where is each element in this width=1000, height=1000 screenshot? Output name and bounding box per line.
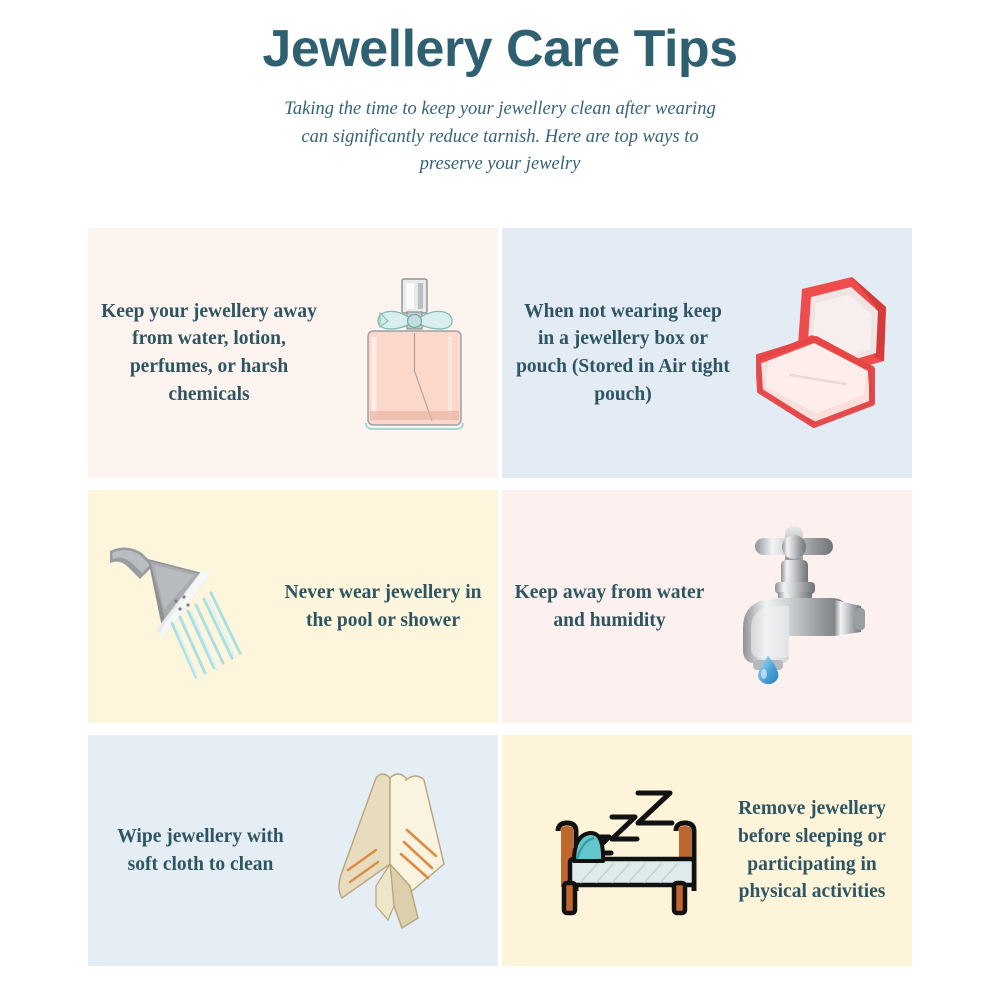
page-title: Jewellery Care Tips	[0, 0, 1000, 80]
ring-box-icon	[744, 228, 912, 478]
tip-card-wipe-cloth[interactable]: Wipe jewellery with soft cloth to clean	[88, 735, 498, 966]
tip-card-storage[interactable]: When not wearing keep in a jewellery box…	[502, 228, 912, 478]
page-subtitle: Taking the time to keep your jewellery c…	[280, 96, 720, 178]
faucet-drip-icon	[717, 490, 885, 723]
shower-head-icon	[100, 490, 268, 723]
tip-card-sleeping[interactable]: Remove jewellery before sleeping or part…	[502, 735, 912, 966]
tip-card-water-humidity[interactable]: Keep away from water and humidity	[502, 490, 912, 723]
tip-text: Keep away from water and humidity	[502, 579, 717, 634]
infographic-page: Jewellery Care Tips Taking the time to k…	[0, 0, 1000, 1000]
tip-card-chemicals[interactable]: Keep your jewellery away from water, lot…	[88, 228, 498, 478]
tips-grid: Keep your jewellery away from water, lot…	[88, 228, 912, 966]
tip-text: Wipe jewellery with soft cloth to clean	[88, 823, 313, 878]
bed-sleep-icon	[544, 735, 712, 966]
tip-card-pool-shower[interactable]: Never wear jewellery in the pool or show…	[88, 490, 498, 723]
page-header: Jewellery Care Tips Taking the time to k…	[0, 0, 1000, 178]
tip-text: Never wear jewellery in the pool or show…	[268, 579, 498, 634]
polishing-cloth-icon	[313, 735, 481, 966]
perfume-bottle-icon	[330, 228, 498, 478]
tip-text: Remove jewellery before sleeping or part…	[712, 795, 912, 906]
tip-text: When not wearing keep in a jewellery box…	[502, 298, 744, 409]
tip-text: Keep your jewellery away from water, lot…	[88, 298, 330, 409]
